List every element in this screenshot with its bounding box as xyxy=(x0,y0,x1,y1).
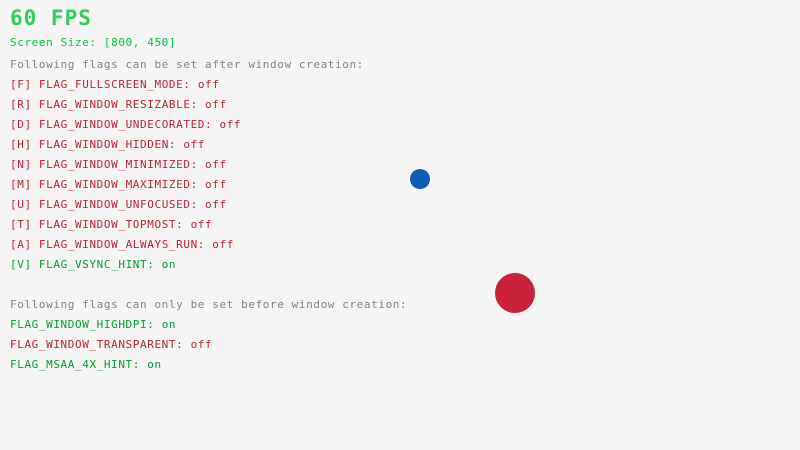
screen-size-label: Screen Size: [800, 450] xyxy=(10,36,176,50)
flag-name: FLAG_WINDOW_TOPMOST: xyxy=(39,218,183,231)
red-circle xyxy=(495,273,535,313)
flag-list-before-creation: FLAG_WINDOW_HIGHDPI: onFLAG_WINDOW_TRANS… xyxy=(0,318,400,378)
section-heading-before-creation: Following flags can only be set before w… xyxy=(10,298,407,312)
flag-value: on xyxy=(147,358,161,371)
flag-shortcut-key: [T] xyxy=(10,218,32,231)
flag-shortcut-key: [R] xyxy=(10,98,32,111)
flag-row[interactable]: [A] FLAG_WINDOW_ALWAYS_RUN: off xyxy=(0,238,400,258)
flag-row: FLAG_MSAA_4X_HINT: on xyxy=(0,358,400,378)
flag-value: off xyxy=(205,178,227,191)
flag-name: FLAG_VSYNC_HINT: xyxy=(39,258,155,271)
flag-list-after-creation: [F] FLAG_FULLSCREEN_MODE: off[R] FLAG_WI… xyxy=(0,78,400,278)
flag-value: off xyxy=(183,138,205,151)
flag-name: FLAG_WINDOW_HIDDEN: xyxy=(39,138,176,151)
flag-name: FLAG_WINDOW_RESIZABLE: xyxy=(39,98,198,111)
flag-row: FLAG_WINDOW_HIGHDPI: on xyxy=(0,318,400,338)
flag-name: FLAG_MSAA_4X_HINT: xyxy=(10,358,140,371)
flag-name: FLAG_WINDOW_MINIMIZED: xyxy=(39,158,198,171)
flag-row[interactable]: [R] FLAG_WINDOW_RESIZABLE: off xyxy=(0,98,400,118)
flag-row: FLAG_WINDOW_TRANSPARENT: off xyxy=(0,338,400,358)
raylib-window-canvas: 60 FPS Screen Size: [800, 450] Following… xyxy=(0,0,800,450)
flag-row[interactable]: [F] FLAG_FULLSCREEN_MODE: off xyxy=(0,78,400,98)
flag-shortcut-key: [D] xyxy=(10,118,32,131)
flag-name: FLAG_FULLSCREEN_MODE: xyxy=(39,78,191,91)
flag-name: FLAG_WINDOW_UNDECORATED: xyxy=(39,118,212,131)
flag-row[interactable]: [T] FLAG_WINDOW_TOPMOST: off xyxy=(0,218,400,238)
flag-value: on xyxy=(162,258,176,271)
flag-name: FLAG_WINDOW_TRANSPARENT: xyxy=(10,338,183,351)
flag-value: off xyxy=(205,158,227,171)
flag-name: FLAG_WINDOW_HIGHDPI: xyxy=(10,318,154,331)
flag-value: off xyxy=(212,238,234,251)
flag-shortcut-key: [N] xyxy=(10,158,32,171)
flag-value: off xyxy=(191,218,213,231)
flag-name: FLAG_WINDOW_UNFOCUSED: xyxy=(39,198,198,211)
flag-value: off xyxy=(198,78,220,91)
flag-shortcut-key: [F] xyxy=(10,78,32,91)
flag-row[interactable]: [H] FLAG_WINDOW_HIDDEN: off xyxy=(0,138,400,158)
flag-name: FLAG_WINDOW_ALWAYS_RUN: xyxy=(39,238,205,251)
flag-shortcut-key: [A] xyxy=(10,238,32,251)
flag-row[interactable]: [V] FLAG_VSYNC_HINT: on xyxy=(0,258,400,278)
flag-row[interactable]: [N] FLAG_WINDOW_MINIMIZED: off xyxy=(0,158,400,178)
flag-shortcut-key: [V] xyxy=(10,258,32,271)
flag-value: off xyxy=(205,98,227,111)
flag-name: FLAG_WINDOW_MAXIMIZED: xyxy=(39,178,198,191)
fps-counter: 60 FPS xyxy=(10,6,92,30)
flag-value: off xyxy=(205,198,227,211)
flag-shortcut-key: [H] xyxy=(10,138,32,151)
flag-row[interactable]: [M] FLAG_WINDOW_MAXIMIZED: off xyxy=(0,178,400,198)
flag-value: off xyxy=(191,338,213,351)
flag-value: on xyxy=(162,318,176,331)
flag-value: off xyxy=(219,118,241,131)
flag-row[interactable]: [U] FLAG_WINDOW_UNFOCUSED: off xyxy=(0,198,400,218)
section-heading-after-creation: Following flags can be set after window … xyxy=(10,58,364,72)
blue-circle xyxy=(410,169,430,189)
flag-row[interactable]: [D] FLAG_WINDOW_UNDECORATED: off xyxy=(0,118,400,138)
flag-shortcut-key: [U] xyxy=(10,198,32,211)
flag-shortcut-key: [M] xyxy=(10,178,32,191)
